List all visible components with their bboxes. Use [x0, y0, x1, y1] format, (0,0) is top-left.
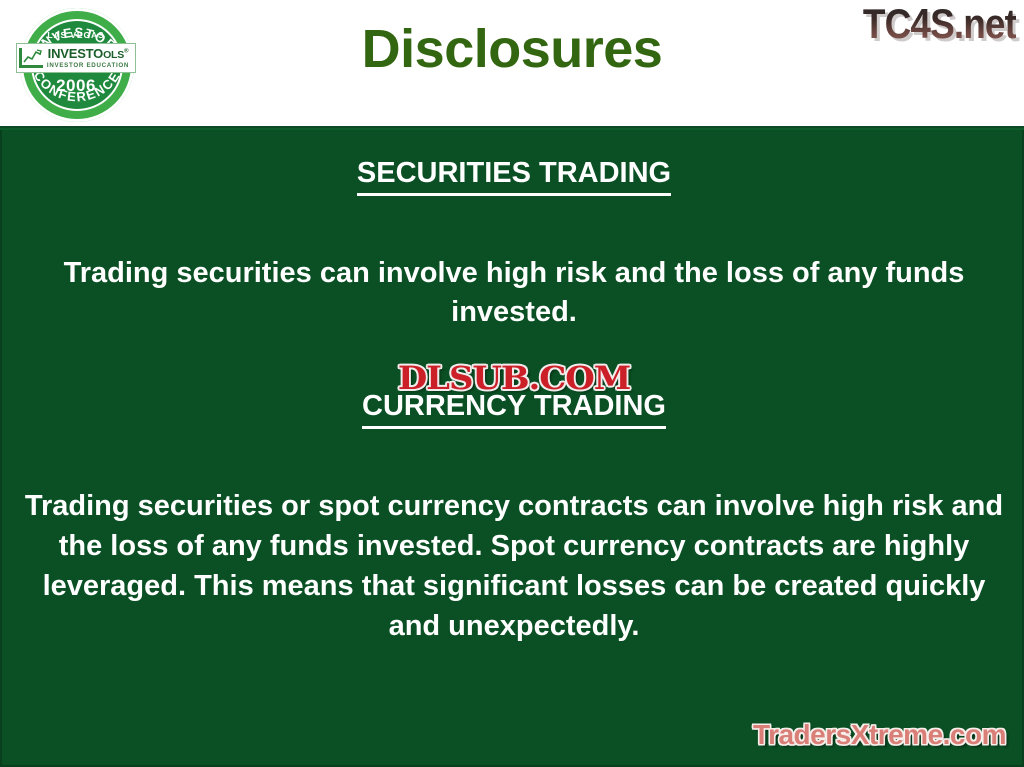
paragraph-securities-trading: Trading securities can involve high risk…	[2, 254, 1024, 333]
heading-currency-trading: CURRENCY TRADING	[2, 392, 1024, 421]
slide-body: SECURITIES TRADING Trading securities ca…	[0, 130, 1024, 767]
tradersxtreme-watermark: TradersXtreme.com	[753, 719, 1006, 751]
heading-securities-trading: SECURITIES TRADING	[2, 159, 1024, 188]
slide-header: INVESTOR CONFERENCE LAS VEGAS INVESTOOLS…	[0, 0, 1024, 128]
logo-year-label: 2006	[14, 76, 138, 96]
slide-disclosures: INVESTOR CONFERENCE LAS VEGAS INVESTOOLS…	[0, 0, 1024, 767]
tc4s-brand-logo: TC4S.net	[863, 2, 1016, 46]
paragraph-currency-trading: Trading securities or spot currency cont…	[2, 486, 1024, 646]
